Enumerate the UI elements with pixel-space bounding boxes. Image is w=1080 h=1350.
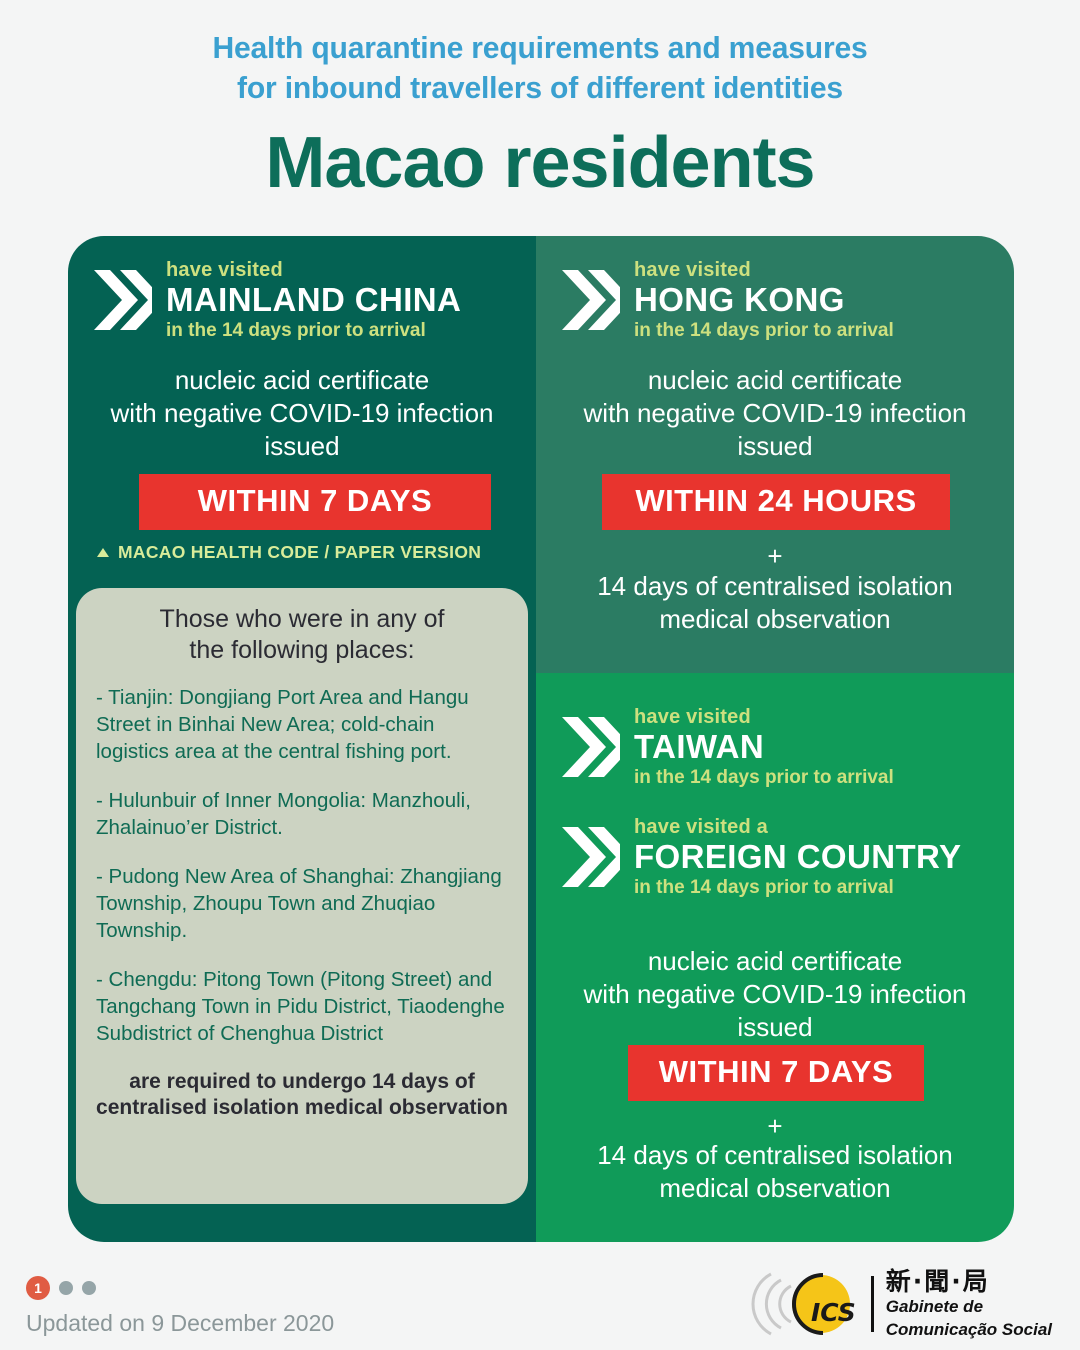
mainland-body-text: nucleic acid certificate with negative C… <box>80 364 524 463</box>
panel-taiwan-foreign: have visited TAIWAN in the 14 days prior… <box>536 673 1014 1242</box>
hongkong-header-text: have visited HONG KONG in the 14 days pr… <box>634 260 894 340</box>
taiwan-post-label: in the 14 days prior to arrival <box>634 768 894 787</box>
hongkong-badge: WITHIN 24 HOURS <box>602 474 950 530</box>
logo-portuguese-line-2: Comunicação Social <box>886 1320 1052 1340</box>
logo-chinese-name: 新·聞·局 <box>886 1269 1052 1294</box>
pagination-dot-3[interactable] <box>82 1281 96 1295</box>
content-card: have visited MAINLAND CHINA in the 14 da… <box>68 236 1014 1242</box>
affected-place-item: - Tianjin: Dongjiang Port Area and Hangu… <box>96 684 508 765</box>
pagination-dots[interactable]: 1 <box>26 1276 96 1300</box>
hongkong-plus-sign: + <box>544 539 1006 573</box>
mainland-badge: WITHIN 7 DAYS <box>139 474 491 530</box>
mainland-place-label: MAINLAND CHINA <box>166 283 461 318</box>
updated-date: Updated on 9 December 2020 <box>26 1310 334 1337</box>
mainland-post-label: in the 14 days prior to arrival <box>166 321 461 340</box>
svg-text:ICS: ICS <box>811 1298 856 1327</box>
page-title: Macao residents <box>0 120 1080 206</box>
taiwan-pre-label: have visited <box>634 707 894 727</box>
panel-mainland-china: have visited MAINLAND CHINA in the 14 da… <box>68 236 536 1242</box>
affected-places-box: Those who were in any of the following p… <box>76 588 528 1204</box>
taiwan-foreign-extra-text: 14 days of centralised isolation medical… <box>544 1139 1006 1205</box>
hongkong-pre-label: have visited <box>634 260 894 280</box>
affected-place-item: - Hulunbuir of Inner Mongolia: Manzhouli… <box>96 787 508 841</box>
right-column: have visited HONG KONG in the 14 days pr… <box>536 236 1014 1242</box>
logo-divider <box>871 1276 874 1332</box>
hongkong-place-label: HONG KONG <box>634 283 894 318</box>
logo-portuguese-line-1: Gabinete de <box>886 1297 1052 1317</box>
foreign-post-label: in the 14 days prior to arrival <box>634 878 961 897</box>
foreign-header-text: have visited a FOREIGN COUNTRY in the 14… <box>634 817 961 897</box>
ics-logo-icon: ICS <box>749 1266 867 1342</box>
foreign-header: have visited a FOREIGN COUNTRY in the 14… <box>562 817 1008 897</box>
triangle-up-icon <box>97 548 109 557</box>
taiwan-foreign-badge: WITHIN 7 DAYS <box>628 1045 924 1101</box>
subtitle-line-2: for inbound travellers of different iden… <box>16 68 1064 108</box>
hongkong-extra-text: 14 days of centralised isolation medical… <box>544 570 1006 636</box>
double-chevron-right-icon <box>562 266 620 334</box>
taiwan-header: have visited TAIWAN in the 14 days prior… <box>562 707 1002 787</box>
double-chevron-right-icon <box>94 266 152 334</box>
mainland-header: have visited MAINLAND CHINA in the 14 da… <box>94 260 524 340</box>
mainland-note: MACAO HEALTH CODE / PAPER VERSION <box>97 542 527 563</box>
page-footer: 1 Updated on 9 December 2020 ICS <box>0 1258 1080 1350</box>
pagination-dot-1[interactable]: 1 <box>26 1276 50 1300</box>
taiwan-foreign-body-text: nucleic acid certificate with negative C… <box>544 945 1006 1044</box>
foreign-place-label: FOREIGN COUNTRY <box>634 840 961 875</box>
pagination-dot-2[interactable] <box>59 1281 73 1295</box>
mainland-pre-label: have visited <box>166 260 461 280</box>
hongkong-header: have visited HONG KONG in the 14 days pr… <box>562 260 1002 340</box>
subtitle-line-1: Health quarantine requirements and measu… <box>16 28 1064 68</box>
foreign-pre-label: have visited a <box>634 817 961 837</box>
double-chevron-right-icon <box>562 823 620 891</box>
taiwan-foreign-plus-sign: + <box>544 1109 1006 1143</box>
taiwan-header-text: have visited TAIWAN in the 14 days prior… <box>634 707 894 787</box>
logo-text-block: 新·聞·局 Gabinete de Comunicação Social <box>886 1269 1052 1340</box>
double-chevron-right-icon <box>562 713 620 781</box>
hongkong-post-label: in the 14 days prior to arrival <box>634 321 894 340</box>
page-title-block: Health quarantine requirements and measu… <box>0 28 1080 206</box>
mainland-header-text: have visited MAINLAND CHINA in the 14 da… <box>166 260 461 340</box>
panel-hong-kong: have visited HONG KONG in the 14 days pr… <box>536 236 1014 673</box>
hongkong-body-text: nucleic acid certificate with negative C… <box>544 364 1006 463</box>
affected-places-footer: are required to undergo 14 days of centr… <box>96 1069 508 1121</box>
taiwan-place-label: TAIWAN <box>634 730 894 765</box>
affected-places-title: Those who were in any of the following p… <box>96 604 508 666</box>
ics-logo: ICS 新·聞·局 Gabinete de Comunicação Social <box>749 1266 1052 1342</box>
affected-place-item: - Chengdu: Pitong Town (Pitong Street) a… <box>96 966 508 1047</box>
mainland-note-label: MACAO HEALTH CODE / PAPER VERSION <box>118 542 481 563</box>
infographic-page: Health quarantine requirements and measu… <box>0 0 1080 1350</box>
affected-place-item: - Pudong New Area of Shanghai: Zhangjian… <box>96 863 508 944</box>
